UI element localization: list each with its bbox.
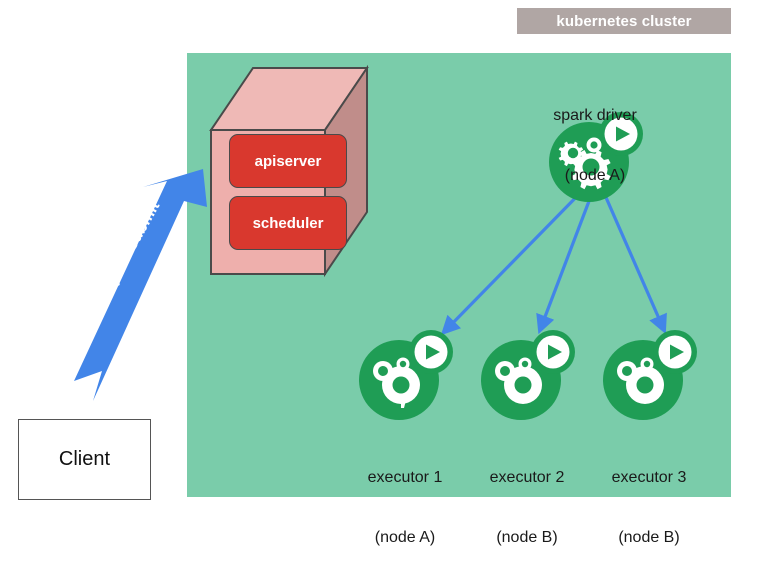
scheduler-label: scheduler: [230, 197, 346, 249]
executor-2-label-line1: executor 2: [457, 468, 597, 488]
spark-submit-arrow: [55, 165, 235, 415]
executor-2-node[interactable]: [479, 330, 575, 422]
executor-3-label: executor 3 (node B): [579, 428, 719, 588]
executor-3-label-line2: (node B): [579, 528, 719, 548]
spark-driver-label: spark driver (node A): [505, 66, 685, 226]
apiserver-label: apiserver: [230, 135, 346, 187]
kubernetes-cluster-tag-label: kubernetes cluster: [556, 13, 691, 30]
spark-submit-arrow-shape: [74, 169, 207, 401]
apiserver-box[interactable]: apiserver: [229, 134, 347, 188]
diagram-canvas: kubernetes cluster apiserver scheduler: [0, 0, 761, 516]
client-box[interactable]: Client: [18, 419, 151, 500]
spark-driver-label-line2: (node A): [505, 166, 685, 186]
executor-1-label-line2: (node A): [335, 528, 475, 548]
executor-1-node[interactable]: [357, 330, 453, 422]
kubernetes-cluster-tag: kubernetes cluster: [517, 8, 731, 34]
scheduler-box[interactable]: scheduler: [229, 196, 347, 250]
executor-3-label-line1: executor 3: [579, 468, 719, 488]
executor-3-node[interactable]: [601, 330, 697, 422]
executor-1-label-line1: executor 1: [335, 468, 475, 488]
executor-2-label: executor 2 (node B): [457, 428, 597, 588]
client-label: Client: [59, 448, 110, 471]
spark-driver-label-line1: spark driver: [505, 106, 685, 126]
executor-1-label: executor 1 (node A): [335, 428, 475, 588]
executor-2-label-line2: (node B): [457, 528, 597, 548]
